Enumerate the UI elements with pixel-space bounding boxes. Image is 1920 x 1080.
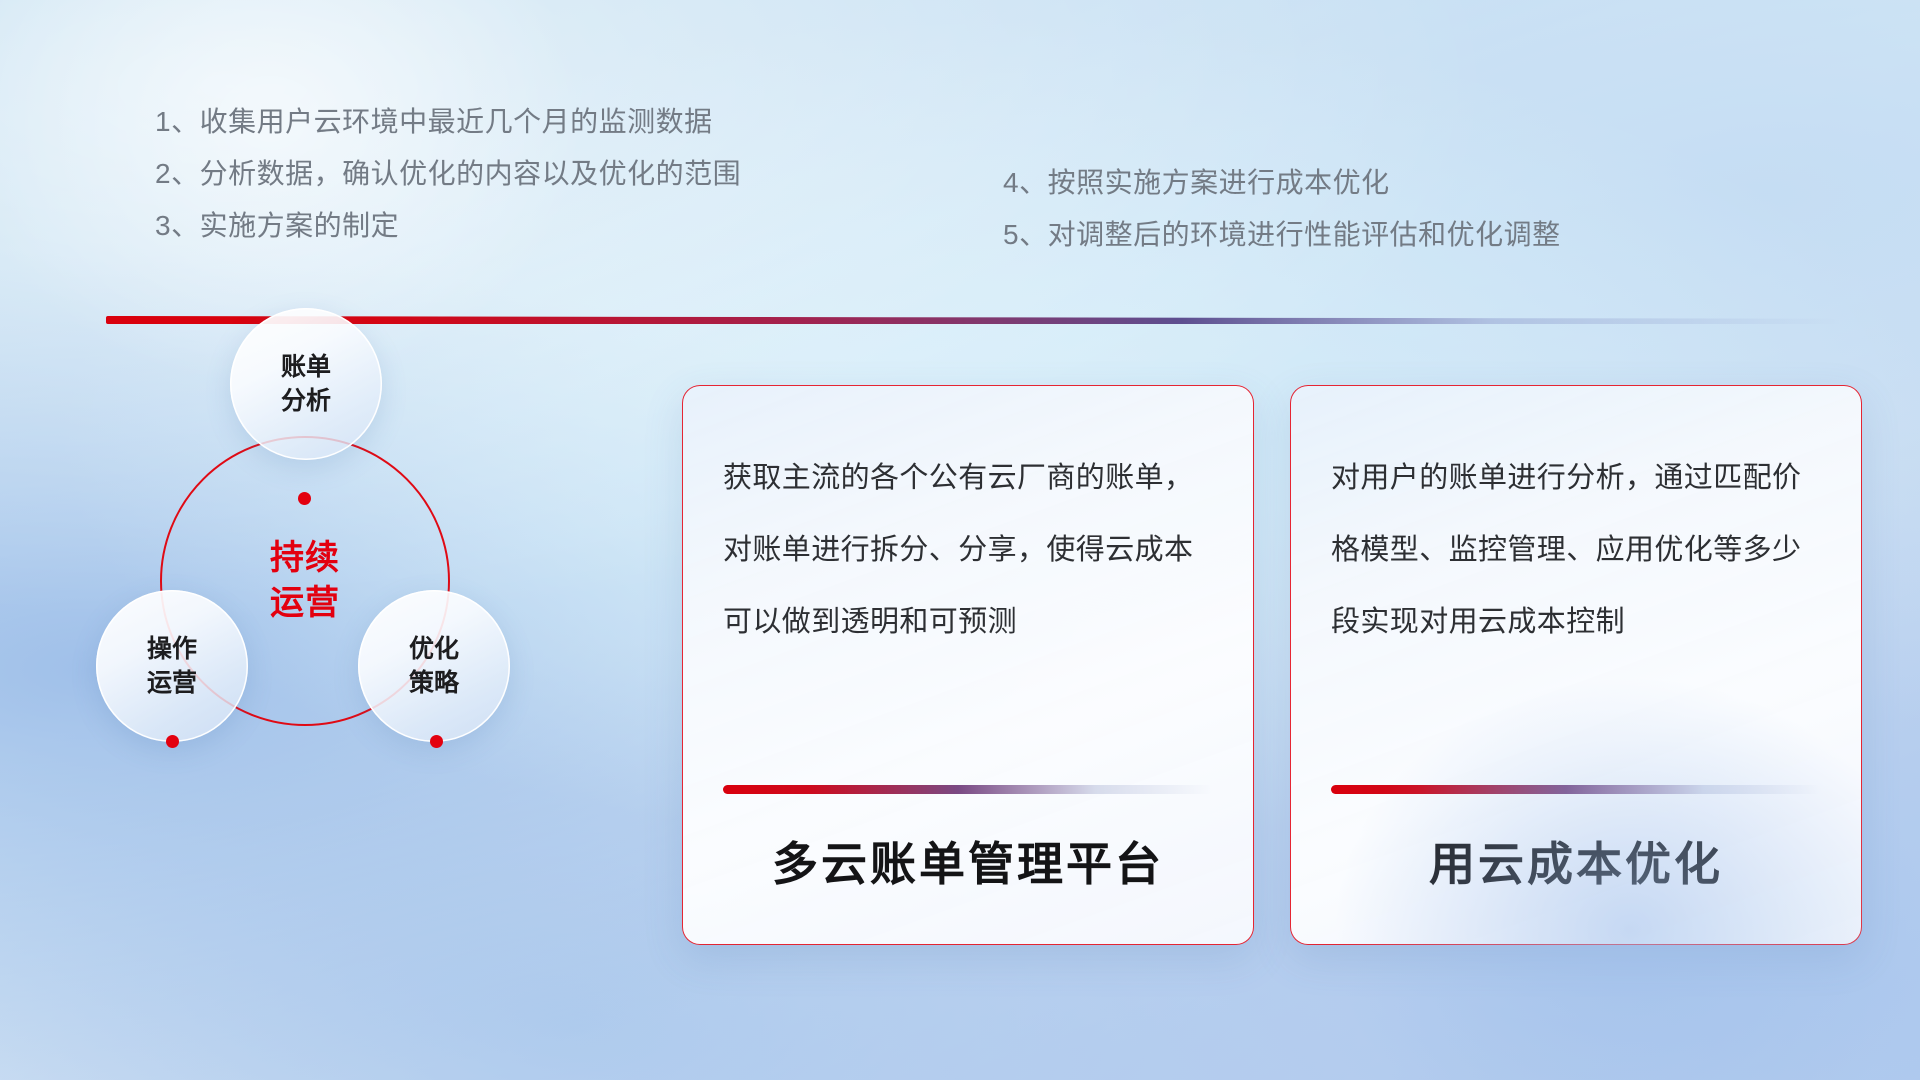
bubble-optimization-policy[interactable]: 优化 策略 — [358, 590, 510, 742]
card-2-body: 对用户的账单进行分析，通过匹配价格模型、监控管理、应用优化等多少段实现对用云成本… — [1331, 442, 1821, 658]
bubble-operations[interactable]: 操作 运营 — [96, 590, 248, 742]
card-1-body: 获取主流的各个公有云厂商的账单，对账单进行拆分、分享，使得云成本可以做到透明和可… — [723, 442, 1213, 658]
center-label-line-1: 持续 — [270, 536, 340, 581]
bubble-operations-line-2: 运营 — [147, 666, 197, 701]
card-multicloud-billing-platform[interactable]: 获取主流的各个公有云厂商的账单，对账单进行拆分、分享，使得云成本可以做到透明和可… — [682, 385, 1254, 945]
step-item-3: 3、实施方案的制定 — [155, 200, 741, 252]
connector-node-right-icon — [430, 735, 443, 748]
card-cloud-cost-optimization[interactable]: 对用户的账单进行分析，通过匹配价格模型、监控管理、应用优化等多少段实现对用云成本… — [1290, 385, 1862, 945]
step-item-1: 1、收集用户云环境中最近几个月的监测数据 — [155, 96, 741, 148]
card-1-rule — [723, 785, 1213, 794]
bubble-billing-line-2: 分析 — [281, 384, 331, 419]
bubble-operations-line-1: 操作 — [147, 632, 197, 667]
center-label-line-2: 运营 — [270, 581, 340, 626]
bubble-billing-line-1: 账单 — [281, 350, 331, 385]
bubble-billing-analysis[interactable]: 账单 分析 — [230, 308, 382, 460]
bubble-policy-line-1: 优化 — [409, 632, 459, 667]
continuous-operations-diagram: 持续 运营 账单 分析 操作 运营 优化 策略 — [100, 350, 560, 930]
section-divider — [106, 316, 1841, 324]
slide-canvas: 1、收集用户云环境中最近几个月的监测数据 2、分析数据，确认优化的内容以及优化的… — [0, 0, 1920, 1080]
connector-node-top-icon — [298, 492, 311, 505]
bubble-policy-line-2: 策略 — [409, 666, 459, 701]
step-item-2: 2、分析数据，确认优化的内容以及优化的范围 — [155, 148, 741, 200]
step-item-4: 4、按照实施方案进行成本优化 — [1003, 157, 1561, 209]
step-item-5: 5、对调整后的环境进行性能评估和优化调整 — [1003, 209, 1561, 261]
steps-list-right: 4、按照实施方案进行成本优化 5、对调整后的环境进行性能评估和优化调整 — [1003, 157, 1561, 261]
card-2-rule — [1331, 785, 1821, 794]
card-2-title: 用云成本优化 — [1331, 794, 1821, 944]
card-1-title: 多云账单管理平台 — [723, 794, 1213, 944]
connector-node-left-icon — [166, 735, 179, 748]
steps-list-left: 1、收集用户云环境中最近几个月的监测数据 2、分析数据，确认优化的内容以及优化的… — [155, 96, 741, 252]
